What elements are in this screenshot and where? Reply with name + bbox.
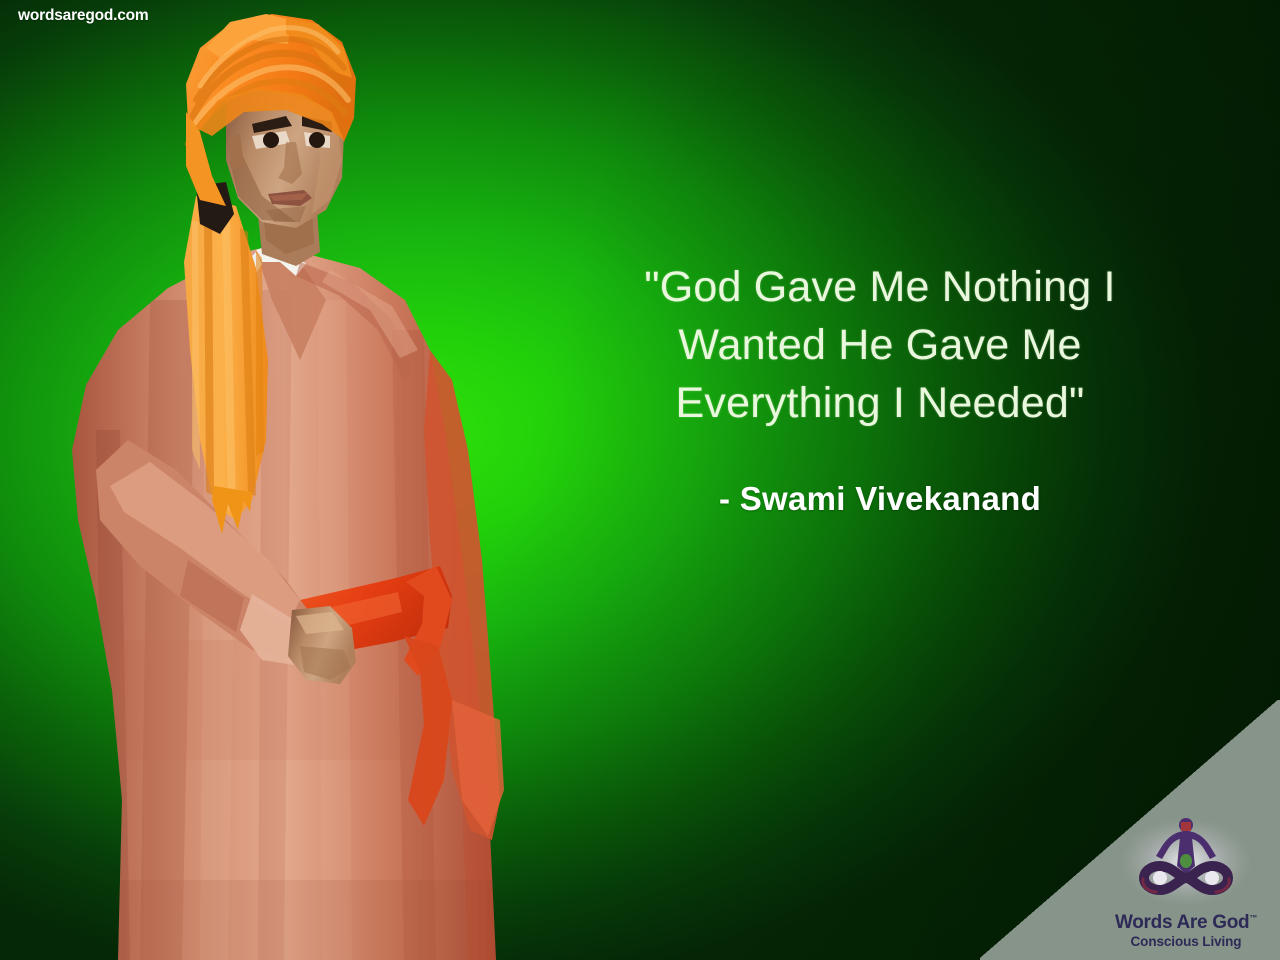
portrait-swami-vivekananda [0,0,560,960]
quote-line-3: Everything I Needed" [590,374,1170,432]
infinity-meditation-icon [1102,812,1270,908]
quote-line-2: Wanted He Gave Me [590,316,1170,374]
quote-line-1: "God Gave Me Nothing I [590,258,1170,316]
brand-logo[interactable]: Words Are God™ Conscious Living [1102,812,1270,952]
quote-poster: wordsaregod.com "God Gave Me Nothing I W… [0,0,1280,960]
site-watermark: wordsaregod.com [18,7,149,25]
trademark-symbol: ™ [1249,914,1257,923]
logo-subtitle: Conscious Living [1102,935,1270,949]
quote-attribution: - Swami Vivekanand [590,480,1170,518]
logo-title: Words Are God™ [1102,913,1270,932]
quote-text: "God Gave Me Nothing I Wanted He Gave Me… [590,258,1170,432]
logo-title-text: Words Are God [1115,912,1249,933]
